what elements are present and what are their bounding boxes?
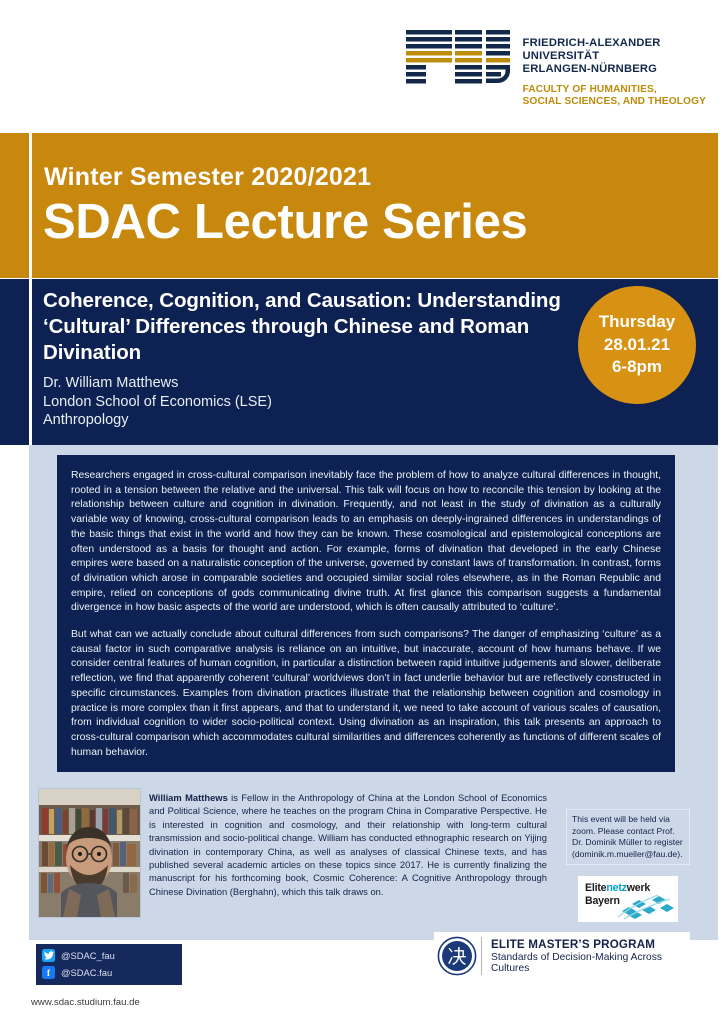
faculty-line1: FACULTY OF HUMANITIES, [523,84,706,96]
program-title: ELITE MASTER’S PROGRAM [491,938,690,951]
program-seal-icon: 决 [434,933,480,979]
abstract-paragraph-1: Researchers engaged in cross-cultural co… [71,469,661,616]
twitter-link[interactable]: @SDAC_fau [42,948,176,963]
speaker-department: Anthropology [43,411,563,430]
bio-name: William Matthews [149,792,228,803]
talk-title: Coherence, Cognition, and Causation: Und… [43,288,563,366]
event-day: Thursday [599,311,676,334]
social-links-box[interactable]: @SDAC_fau f @SDAC.fau [36,944,182,985]
faculty-line2: SOCIAL SCIENCES, AND THEOLOGY [523,96,706,108]
enb-word-elite: Elite [585,882,606,894]
svg-text:决: 决 [447,946,466,968]
footer-website[interactable]: www.sdac.studium.fau.de [31,997,140,1008]
university-name-line2: UNIVERSITÄT [523,50,706,63]
university-name-line3: ERLANGEN-NÜRNBERG [523,63,706,76]
semester-label: Winter Semester 2020/2021 [44,163,371,192]
elitenetzwerk-bayern-logo: Elitenetzwerk Bayern [578,876,678,922]
logo-divider [481,937,482,975]
program-subtitle: Standards of Decision-Making Across Cult… [491,952,690,974]
program-text-block: ELITE MASTER’S PROGRAM Standards of Deci… [491,938,690,974]
fau-logo-block: FRIEDRICH-ALEXANDER UNIVERSITÄT ERLANGEN… [403,26,706,108]
twitter-bird-icon [42,949,55,962]
twitter-handle: @SDAC_fau [61,950,115,961]
enb-word-bayern: Bayern [585,895,620,907]
bio-text: is Fellow in the Anthropology of China a… [149,792,547,897]
university-name-line1: FRIEDRICH-ALEXANDER [523,37,706,50]
fau-logo-icon [403,26,513,88]
speaker-name: Dr. William Matthews [43,374,563,393]
portrait-image [39,789,140,917]
facebook-link[interactable]: f @SDAC.fau [42,965,176,980]
registration-note: This event will be held via zoom. Please… [566,809,690,865]
event-date: 28.01.21 [604,334,670,357]
page-header: FRIEDRICH-ALEXANDER UNIVERSITÄT ERLANGEN… [0,0,724,133]
speaker-photo [38,788,141,918]
abstract-paragraph-2: But what can we actually conclude about … [71,628,661,760]
vertical-divider-rule [29,133,32,445]
abstract-box: Researchers engaged in cross-cultural co… [57,455,675,772]
lecture-series-title: SDAC Lecture Series [43,194,528,250]
speaker-affiliation: London School of Economics (LSE) [43,393,563,412]
facebook-handle: @SDAC.fau [61,967,112,978]
speaker-block: Dr. William Matthews London School of Ec… [43,374,563,430]
enb-diamond-icon [616,891,678,921]
elite-masters-program-logo: 决 ELITE MASTER’S PROGRAM Standards of De… [434,932,690,980]
speaker-bio: William Matthews is Fellow in the Anthro… [149,791,547,898]
facebook-f-icon: f [42,966,55,979]
event-time: 6-8pm [612,356,662,379]
event-date-badge: Thursday 28.01.21 6-8pm [578,286,696,404]
